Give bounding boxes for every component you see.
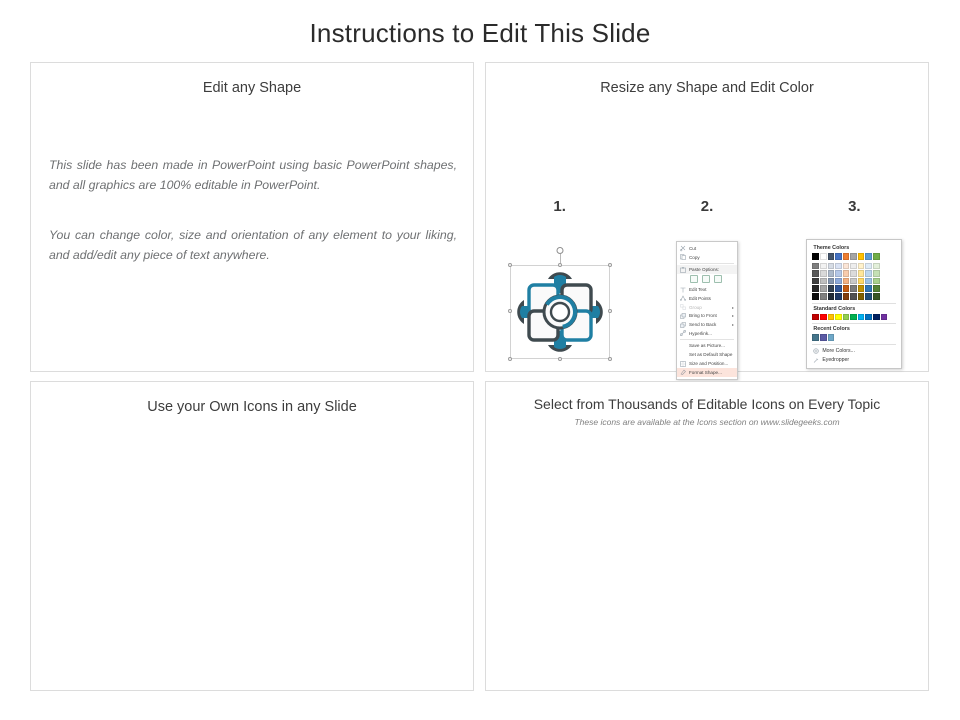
swatch[interactable] bbox=[850, 263, 857, 270]
swatch[interactable] bbox=[858, 314, 865, 321]
menu-item-label: Set as Default Shape bbox=[689, 352, 734, 357]
resize-step-numbers: 1. 2. 3. bbox=[486, 198, 928, 215]
menu-icon-blank bbox=[680, 343, 686, 349]
swatch[interactable] bbox=[812, 334, 819, 341]
swatch[interactable] bbox=[812, 253, 819, 260]
figure-context-menu-cell: CutCopyPaste Options:Edit TextEdit Point… bbox=[633, 233, 780, 380]
theme-tint-row[interactable] bbox=[812, 285, 896, 292]
swatch[interactable] bbox=[820, 285, 827, 292]
menu-divider bbox=[680, 263, 734, 264]
menu-item-label: Copy bbox=[689, 255, 734, 260]
recent-colors-row[interactable] bbox=[812, 334, 896, 341]
swatch[interactable] bbox=[843, 270, 850, 277]
quadrant-shape-graphic bbox=[510, 265, 610, 359]
panel-subheading-icon-library: These icons are available at the Icons s… bbox=[486, 412, 928, 427]
swatch[interactable] bbox=[858, 278, 865, 285]
eyedropper-label: Eyedropper bbox=[822, 357, 849, 363]
swatch[interactable] bbox=[812, 314, 819, 321]
swatch[interactable] bbox=[820, 278, 827, 285]
panel-resize-shape-edit-color: Resize any Shape and Edit Color 1. 2. 3. bbox=[485, 62, 929, 372]
swatch[interactable] bbox=[843, 253, 850, 260]
menu-icon-blank bbox=[680, 352, 686, 358]
panel-icon-library: Select from Thousands of Editable Icons … bbox=[485, 381, 929, 691]
menu-item-label: Group bbox=[689, 305, 729, 310]
swatch[interactable] bbox=[835, 285, 842, 292]
swatch[interactable] bbox=[812, 270, 819, 277]
swatch[interactable] bbox=[820, 253, 827, 260]
swatch[interactable] bbox=[865, 270, 872, 277]
size-position-icon bbox=[680, 361, 686, 367]
swatch[interactable] bbox=[835, 293, 842, 300]
theme-tint-row[interactable] bbox=[812, 278, 896, 285]
figure-quadrant-shape-cell bbox=[486, 233, 633, 359]
swatch[interactable] bbox=[828, 253, 835, 260]
panel-heading-resize-shape: Resize any Shape and Edit Color bbox=[486, 63, 928, 96]
swatch[interactable] bbox=[812, 278, 819, 285]
paste-option-icons[interactable] bbox=[677, 274, 737, 285]
chevron-right-icon: ▸ bbox=[732, 322, 734, 327]
swatch[interactable] bbox=[828, 263, 835, 270]
menu-item-cut[interactable]: Cut bbox=[677, 244, 737, 253]
menu-item-label: Send to Back bbox=[689, 322, 729, 327]
figure-color-palette-cell: Theme ColorsStandard ColorsRecent Colors… bbox=[781, 233, 928, 369]
recent-colors-label: Recent Colors bbox=[813, 326, 896, 332]
swatch[interactable] bbox=[865, 293, 872, 300]
swatch[interactable] bbox=[850, 253, 857, 260]
format-shape-icon bbox=[680, 369, 686, 375]
menu-item-edit-text[interactable]: Edit Text bbox=[677, 285, 737, 294]
swatch[interactable] bbox=[812, 293, 819, 300]
more-colors-label: More Colors... bbox=[822, 348, 855, 354]
menu-item-format-shape[interactable]: Format Shape... bbox=[677, 368, 737, 377]
copy-icon bbox=[680, 254, 686, 260]
swatch[interactable] bbox=[828, 334, 835, 341]
menu-item-send-to-back[interactable]: Send to Back▸ bbox=[677, 320, 737, 329]
page-title: Instructions to Edit This Slide bbox=[0, 18, 960, 49]
menu-divider bbox=[680, 339, 734, 340]
swatch[interactable] bbox=[843, 293, 850, 300]
panel-edit-any-shape: Edit any Shape This slide has been made … bbox=[30, 62, 474, 372]
swatch[interactable] bbox=[820, 334, 827, 341]
link-icon bbox=[680, 330, 686, 336]
swatch[interactable] bbox=[820, 314, 827, 321]
swatch[interactable] bbox=[858, 270, 865, 277]
swatch[interactable] bbox=[828, 270, 835, 277]
swatch[interactable] bbox=[850, 285, 857, 292]
menu-item-label: Edit Points bbox=[689, 296, 734, 301]
bring-front-icon bbox=[680, 313, 686, 319]
menu-item-copy[interactable]: Copy bbox=[677, 253, 737, 262]
menu-item-edit-points[interactable]: Edit Points bbox=[677, 294, 737, 303]
eyedropper-icon bbox=[813, 357, 819, 363]
step-number-3: 3. bbox=[781, 198, 928, 215]
swatch[interactable] bbox=[873, 314, 880, 321]
theme-tint-row[interactable] bbox=[812, 270, 896, 277]
swatch[interactable] bbox=[881, 314, 888, 321]
paste-icon bbox=[680, 267, 686, 273]
chevron-right-icon: ▸ bbox=[732, 313, 734, 318]
palette-divider bbox=[812, 303, 896, 304]
swatch[interactable] bbox=[865, 285, 872, 292]
swatch[interactable] bbox=[843, 278, 850, 285]
palette-divider bbox=[812, 323, 896, 324]
menu-item-label: Paste Options: bbox=[689, 267, 734, 272]
edit-shape-paragraph-1: This slide has been made in PowerPoint u… bbox=[49, 156, 457, 196]
swatch[interactable] bbox=[858, 293, 865, 300]
color-palette-dropdown[interactable]: Theme ColorsStandard ColorsRecent Colors… bbox=[806, 239, 902, 369]
swatch[interactable] bbox=[850, 278, 857, 285]
swatch[interactable] bbox=[843, 263, 850, 270]
slide-canvas: Instructions to Edit This Slide Edit any… bbox=[0, 0, 960, 720]
swatch[interactable] bbox=[812, 285, 819, 292]
menu-item-label: Save as Picture... bbox=[689, 343, 734, 348]
swatch[interactable] bbox=[835, 278, 842, 285]
standard-colors-label: Standard Colors bbox=[813, 306, 896, 312]
paste-keep-formatting-icon[interactable] bbox=[690, 275, 698, 283]
theme-colors-label: Theme Colors bbox=[813, 245, 896, 251]
edit-points-icon bbox=[680, 295, 686, 301]
send-back-icon bbox=[680, 322, 686, 328]
panel-heading-edit-shape: Edit any Shape bbox=[31, 63, 473, 96]
swatch[interactable] bbox=[873, 293, 880, 300]
menu-item-hyperlink[interactable]: Hyperlink... bbox=[677, 329, 737, 338]
menu-item-group[interactable]: Group▸ bbox=[677, 303, 737, 312]
menu-item-set-as-default-shape[interactable]: Set as Default Shape bbox=[677, 350, 737, 359]
edit-shape-paragraph-2: You can change color, size and orientati… bbox=[49, 226, 457, 266]
swatch[interactable] bbox=[828, 293, 835, 300]
menu-item-label: Cut bbox=[689, 246, 734, 251]
more-colors-icon bbox=[813, 348, 819, 354]
paste-text-only-icon[interactable] bbox=[714, 275, 722, 283]
swatch[interactable] bbox=[820, 263, 827, 270]
menu-item-bring-to-front[interactable]: Bring to Front▸ bbox=[677, 311, 737, 320]
step-number-2: 2. bbox=[633, 198, 780, 215]
swatch[interactable] bbox=[820, 270, 827, 277]
swatch[interactable] bbox=[873, 270, 880, 277]
group-icon bbox=[680, 304, 686, 310]
menu-item-label: Bring to Front bbox=[689, 313, 729, 318]
swatch[interactable] bbox=[828, 285, 835, 292]
scissors-icon bbox=[680, 245, 686, 251]
swatch[interactable] bbox=[873, 278, 880, 285]
swatch[interactable] bbox=[858, 263, 865, 270]
swatch[interactable] bbox=[843, 314, 850, 321]
menu-item-size-and-position[interactable]: Size and Position... bbox=[677, 359, 737, 368]
theme-base-row[interactable] bbox=[812, 253, 896, 260]
swatch[interactable] bbox=[865, 278, 872, 285]
menu-item-save-as-picture[interactable]: Save as Picture... bbox=[677, 342, 737, 351]
menu-item-label: Format Shape... bbox=[689, 370, 734, 375]
context-menu-format-shape[interactable]: CutCopyPaste Options:Edit TextEdit Point… bbox=[676, 241, 738, 380]
more-colors-option[interactable]: More Colors... bbox=[812, 347, 896, 356]
swatch[interactable] bbox=[828, 314, 835, 321]
menu-item-label: Edit Text bbox=[689, 287, 734, 292]
standard-colors-row[interactable] bbox=[812, 314, 896, 321]
swatch[interactable] bbox=[858, 253, 865, 260]
menu-item-label: Size and Position... bbox=[689, 361, 734, 366]
panel-heading-own-icons: Use your Own Icons in any Slide bbox=[31, 382, 473, 415]
step-number-1: 1. bbox=[486, 198, 633, 215]
panel-use-own-icons: Use your Own Icons in any Slide 1. 2. 3. bbox=[30, 381, 474, 691]
swatch[interactable] bbox=[865, 263, 872, 270]
swatch[interactable] bbox=[850, 293, 857, 300]
paste-picture-icon[interactable] bbox=[702, 275, 710, 283]
resize-figures-row: CutCopyPaste Options:Edit TextEdit Point… bbox=[486, 233, 928, 380]
swatch[interactable] bbox=[850, 314, 857, 321]
theme-tint-row[interactable] bbox=[812, 293, 896, 300]
rotation-handle[interactable] bbox=[556, 247, 563, 254]
swatch[interactable] bbox=[835, 263, 842, 270]
swatch[interactable] bbox=[835, 314, 842, 321]
quadrant-shape-selected[interactable] bbox=[510, 247, 610, 359]
swatch[interactable] bbox=[828, 278, 835, 285]
swatch[interactable] bbox=[820, 293, 827, 300]
menu-item-paste-options[interactable]: Paste Options: bbox=[677, 265, 737, 274]
swatch[interactable] bbox=[858, 285, 865, 292]
swatch[interactable] bbox=[850, 270, 857, 277]
eyedropper-option[interactable]: Eyedropper bbox=[812, 356, 896, 365]
edit-text-icon bbox=[680, 287, 686, 293]
theme-tint-row[interactable] bbox=[812, 263, 896, 270]
swatch[interactable] bbox=[873, 285, 880, 292]
swatch[interactable] bbox=[873, 253, 880, 260]
swatch[interactable] bbox=[865, 253, 872, 260]
palette-divider bbox=[812, 344, 896, 345]
panel-heading-icon-library: Select from Thousands of Editable Icons … bbox=[486, 382, 928, 412]
swatch[interactable] bbox=[835, 253, 842, 260]
swatch[interactable] bbox=[812, 263, 819, 270]
chevron-right-icon: ▸ bbox=[732, 305, 734, 310]
swatch[interactable] bbox=[843, 285, 850, 292]
swatch[interactable] bbox=[835, 270, 842, 277]
menu-item-label: Hyperlink... bbox=[689, 331, 734, 336]
swatch[interactable] bbox=[865, 314, 872, 321]
swatch[interactable] bbox=[873, 263, 880, 270]
